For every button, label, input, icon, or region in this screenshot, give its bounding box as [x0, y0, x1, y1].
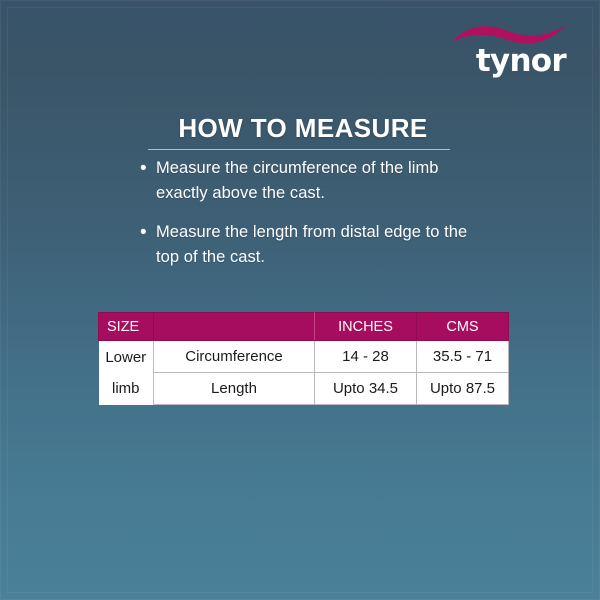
bullet-dot-icon: • — [140, 220, 156, 245]
cell-inches: 14 - 28 — [315, 341, 417, 373]
table-row: Lower limb Circumference 14 - 28 35.5 - … — [99, 341, 509, 373]
outer-frame-border — [0, 0, 600, 600]
heading-divider — [148, 149, 450, 150]
list-item: • Measure the circumference of the limb … — [140, 156, 480, 206]
measurement-guide-poster: tynor HOW TO MEASURE • Measure the circu… — [0, 0, 600, 600]
column-header-parameter — [154, 313, 315, 341]
brand-wordmark: tynor — [438, 45, 568, 77]
cell-cms: Upto 87.5 — [417, 373, 509, 405]
bullet-dot-icon: • — [140, 156, 156, 181]
size-label-line-1: Lower — [103, 342, 150, 373]
instruction-text: Measure the length from distal edge to t… — [156, 220, 480, 270]
column-header-inches: INCHES — [315, 313, 417, 341]
cell-cms: 35.5 - 71 — [417, 341, 509, 373]
heading-block: HOW TO MEASURE — [148, 113, 458, 150]
table-header-row: SIZE INCHES CMS — [99, 313, 509, 341]
size-chart: SIZE INCHES CMS Lower limb Circumference… — [98, 312, 508, 405]
size-label-line-2: limb — [103, 373, 150, 404]
list-item: • Measure the length from distal edge to… — [140, 220, 480, 270]
instruction-text: Measure the circumference of the limb ex… — [156, 156, 480, 206]
inner-frame-border — [7, 7, 593, 593]
cell-inches: Upto 34.5 — [315, 373, 417, 405]
page-title: HOW TO MEASURE — [148, 113, 458, 143]
brand-logo: tynor — [438, 22, 568, 84]
cell-parameter: Circumference — [154, 341, 315, 373]
size-table: SIZE INCHES CMS Lower limb Circumference… — [98, 312, 509, 405]
column-header-size: SIZE — [99, 313, 154, 341]
cell-parameter: Length — [154, 373, 315, 405]
size-label-cell: Lower limb — [99, 341, 154, 405]
instruction-list: • Measure the circumference of the limb … — [140, 156, 480, 284]
table-row: Length Upto 34.5 Upto 87.5 — [99, 373, 509, 405]
column-header-cms: CMS — [417, 313, 509, 341]
